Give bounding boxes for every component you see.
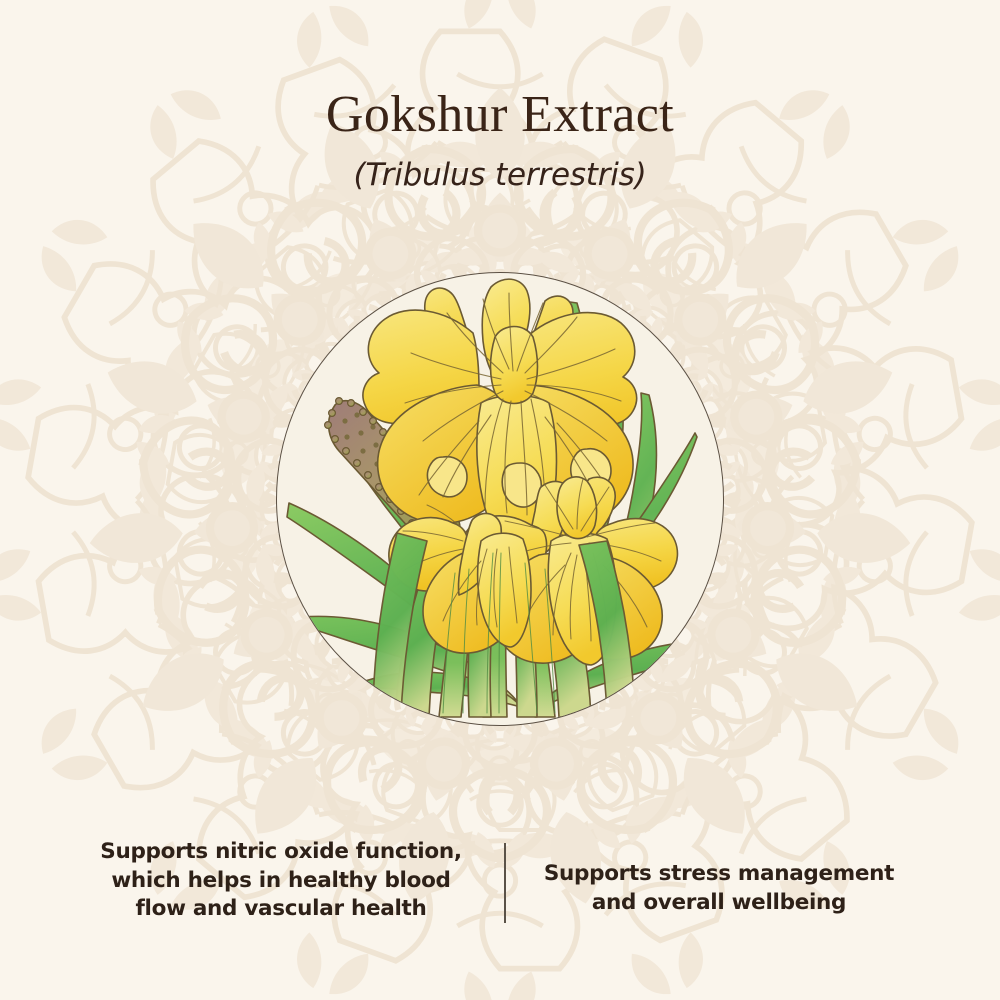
benefit-stress-management: Supports stress management and overall w…: [500, 838, 920, 917]
header: Gokshur Extract (Tribulus terrestris): [0, 88, 1000, 193]
benefits-row: Supports nitric oxide function, which he…: [0, 838, 1000, 938]
benefit-nitric-oxide: Supports nitric oxide function, which he…: [80, 838, 500, 924]
product-ingredient-card: Gokshur Extract (Tribulus terrestris): [0, 0, 1000, 1000]
iris-flower-illustration: [277, 273, 724, 726]
benefits-divider: [504, 843, 506, 923]
page-subtitle: (Tribulus terrestris): [0, 157, 1000, 193]
illustration-medallion: [276, 272, 724, 726]
page-title: Gokshur Extract: [0, 88, 1000, 143]
medallion-disc: [276, 272, 724, 726]
